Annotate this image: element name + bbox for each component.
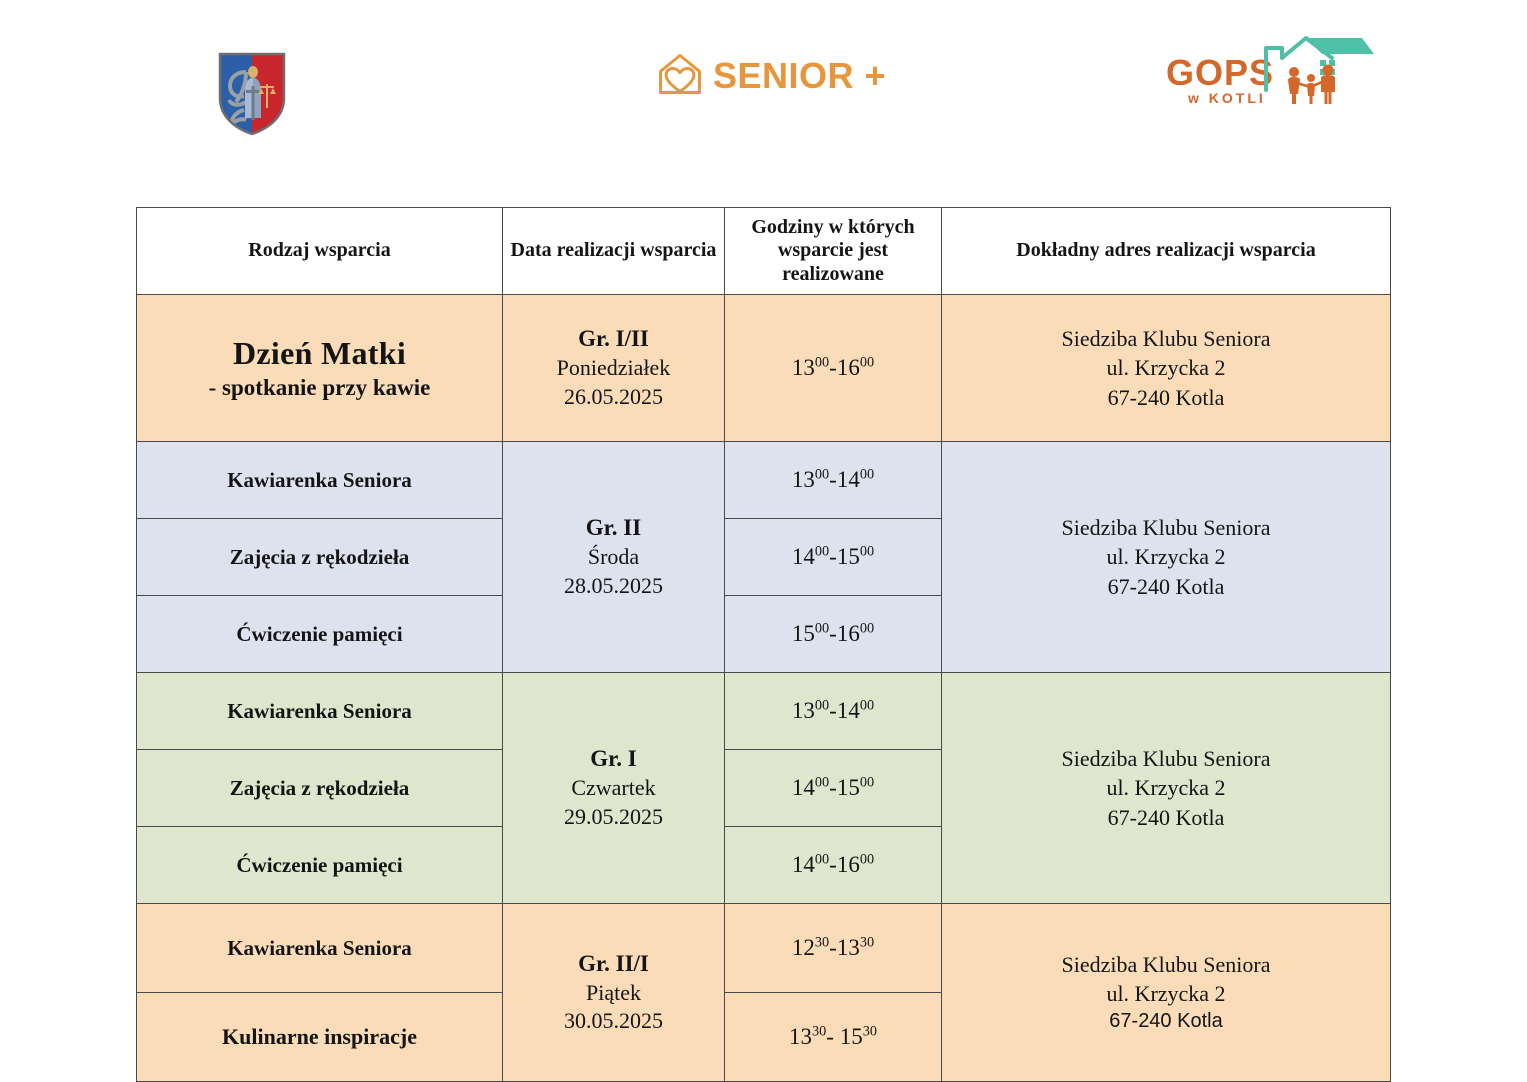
activity-cell: Ćwiczenie pamięci [137, 596, 503, 673]
logo-header: SENIOR + GOPS w KOTLI [0, 0, 1527, 180]
activity-cell: Dzień Matki - spotkanie przy kawie [137, 295, 503, 442]
activity-cell: Zajęcia z rękodzieła [137, 519, 503, 596]
hours-from-min: 00 [815, 620, 829, 636]
hours-cell: 1500-1600 [725, 596, 942, 673]
column-header-address: Dokładny adres realizacji wsparcia [942, 208, 1391, 295]
date-value: 29.05.2025 [509, 803, 718, 832]
address-line-2: ul. Krzycka 2 [948, 773, 1384, 802]
table-row: Kawiarenka Seniora Gr. II/I Piątek 30.05… [137, 904, 1391, 993]
hours-to-min: 30 [860, 934, 874, 950]
hours-cell: 1330- 1530 [725, 993, 942, 1082]
hours-from-hour: 14 [792, 852, 815, 877]
hours-to-min: 00 [860, 697, 874, 713]
gops-house-family-icon [1262, 28, 1377, 108]
hours-to-min: 00 [860, 466, 874, 482]
activity-subtitle: - spotkanie przy kawie [143, 374, 496, 401]
address-cell: Siedziba Klubu Seniora ul. Krzycka 2 67-… [942, 904, 1391, 1082]
hours-from-hour: 13 [792, 355, 815, 380]
hours-from-hour: 13 [789, 1024, 812, 1049]
date-weekday: Środa [509, 543, 718, 572]
date-value: 26.05.2025 [509, 383, 718, 412]
address-line-1: Siedziba Klubu Seniora [948, 324, 1384, 353]
date-cell: Gr. II/I Piątek 30.05.2025 [503, 904, 725, 1082]
hours-cell: 1300-1600 [725, 295, 942, 442]
address-cell: Siedziba Klubu Seniora ul. Krzycka 2 67-… [942, 673, 1391, 904]
address-line-1: Siedziba Klubu Seniora [948, 950, 1384, 979]
kotla-coat-of-arms-icon [216, 50, 288, 136]
hours-from-min: 00 [815, 543, 829, 559]
date-weekday: Piątek [509, 979, 718, 1008]
senior-plus-wordmark: SENIOR + [713, 55, 886, 97]
hours-cell: 1300-1400 [725, 442, 942, 519]
hours-from-min: 30 [812, 1023, 826, 1039]
gops-wordmark: GOPS [1166, 52, 1274, 94]
hours-from-min: 00 [815, 774, 829, 790]
hours-from-min: 00 [815, 851, 829, 867]
hours-to-min: 00 [860, 774, 874, 790]
table-row: Kawiarenka Seniora Gr. II Środa 28.05.20… [137, 442, 1391, 519]
hours-to-min: 00 [860, 543, 874, 559]
hours-to-min: 00 [860, 851, 874, 867]
senior-plus-logo: SENIOR + [655, 48, 875, 104]
hours-to-min: 30 [863, 1023, 877, 1039]
hours-to-hour: 15 [837, 775, 860, 800]
date-cell: Gr. I Czwartek 29.05.2025 [503, 673, 725, 904]
hours-from-hour: 14 [792, 775, 815, 800]
date-group: Gr. II/I [509, 949, 718, 979]
activity-title: Dzień Matki [143, 335, 496, 373]
hours-to-hour: 13 [837, 935, 860, 960]
address-line-3: 67-240 Kotla [948, 803, 1384, 832]
activity-cell: Kawiarenka Seniora [137, 904, 503, 993]
schedule-poster: SENIOR + GOPS w KOTLI [0, 0, 1527, 1080]
table-row: Dzień Matki - spotkanie przy kawie Gr. I… [137, 295, 1391, 442]
address-line-2: ul. Krzycka 2 [948, 353, 1384, 382]
column-header-date: Data realizacji wsparcia [503, 208, 725, 295]
hours-to-hour: 14 [837, 467, 860, 492]
date-cell: Gr. I/II Poniedziałek 26.05.2025 [503, 295, 725, 442]
hours-to-hour: 15 [837, 544, 860, 569]
hours-to-hour: 15 [834, 1024, 863, 1049]
address-line-1: Siedziba Klubu Seniora [948, 513, 1384, 542]
hours-cell: 1400-1500 [725, 519, 942, 596]
address-line-1: Siedziba Klubu Seniora [948, 744, 1384, 773]
hours-from-min: 30 [815, 934, 829, 950]
schedule-table-container: Rodzaj wsparcia Data realizacji wsparcia… [136, 207, 1390, 1082]
hours-to-hour: 16 [837, 621, 860, 646]
hours-to-hour: 16 [837, 355, 860, 380]
activity-cell: Kulinarne inspiracje [137, 993, 503, 1082]
hours-from-hour: 12 [792, 935, 815, 960]
gops-logo: GOPS w KOTLI [1166, 28, 1376, 112]
address-cell: Siedziba Klubu Seniora ul. Krzycka 2 67-… [942, 295, 1391, 442]
activity-cell: Kawiarenka Seniora [137, 673, 503, 750]
address-line-3: 67-240 Kotla [948, 572, 1384, 601]
hours-to-hour: 14 [837, 698, 860, 723]
hours-from-hour: 13 [792, 698, 815, 723]
address-line-3: 67-240 Kotla [948, 1008, 1384, 1034]
hours-to-min: 00 [860, 620, 874, 636]
activity-cell: Zajęcia z rękodzieła [137, 750, 503, 827]
date-group: Gr. II [509, 513, 718, 543]
date-group: Gr. I/II [509, 324, 718, 354]
activity-cell: Kawiarenka Seniora [137, 442, 503, 519]
date-value: 30.05.2025 [509, 1007, 718, 1036]
hours-to-hour: 16 [837, 852, 860, 877]
column-header-hours: Godziny w których wsparcie jest realizow… [725, 208, 942, 295]
hours-from-min: 00 [815, 354, 829, 370]
hours-cell: 1300-1400 [725, 673, 942, 750]
address-line-2: ul. Krzycka 2 [948, 542, 1384, 571]
date-weekday: Czwartek [509, 774, 718, 803]
hours-from-hour: 15 [792, 621, 815, 646]
hours-cell: 1400-1500 [725, 750, 942, 827]
activity-cell: Ćwiczenie pamięci [137, 827, 503, 904]
hours-from-min: 00 [815, 697, 829, 713]
senior-plus-house-heart-icon [655, 50, 705, 103]
hours-cell: 1400-1600 [725, 827, 942, 904]
gops-subtitle: w KOTLI [1188, 90, 1266, 106]
table-row: Kawiarenka Seniora Gr. I Czwartek 29.05.… [137, 673, 1391, 750]
support-schedule-table: Rodzaj wsparcia Data realizacji wsparcia… [136, 207, 1391, 1082]
address-line-2: ul. Krzycka 2 [948, 979, 1384, 1008]
table-header-row: Rodzaj wsparcia Data realizacji wsparcia… [137, 208, 1391, 295]
date-group: Gr. I [509, 744, 718, 774]
date-value: 28.05.2025 [509, 572, 718, 601]
hours-from-hour: 13 [792, 467, 815, 492]
hours-to-min: 00 [860, 354, 874, 370]
date-weekday: Poniedziałek [509, 354, 718, 383]
hours-cell: 1230-1330 [725, 904, 942, 993]
column-header-activity: Rodzaj wsparcia [137, 208, 503, 295]
hours-from-hour: 14 [792, 544, 815, 569]
date-cell: Gr. II Środa 28.05.2025 [503, 442, 725, 673]
address-cell: Siedziba Klubu Seniora ul. Krzycka 2 67-… [942, 442, 1391, 673]
hours-from-min: 00 [815, 466, 829, 482]
address-line-3: 67-240 Kotla [948, 383, 1384, 412]
